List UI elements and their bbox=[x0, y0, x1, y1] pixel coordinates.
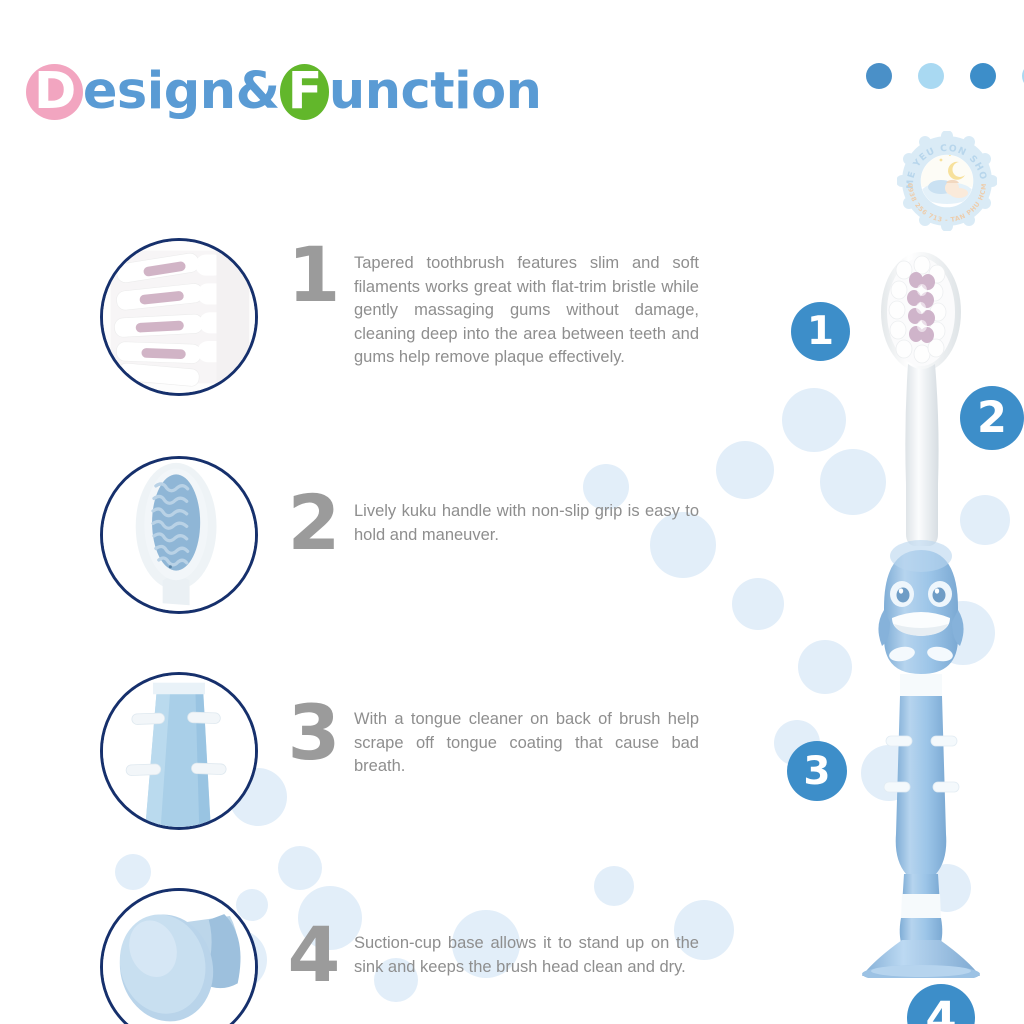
feature-photo-tongue-cleaner bbox=[100, 456, 258, 614]
feature-row-2: 2 Lively kuku handle with non-slip grip … bbox=[100, 456, 699, 614]
feature-text-2: Lively kuku handle with non-slip grip is… bbox=[354, 500, 699, 547]
decor-dot-2 bbox=[918, 63, 944, 89]
feature-text-1: Tapered toothbrush features slim and sof… bbox=[354, 252, 699, 370]
decor-dot-3 bbox=[970, 63, 996, 89]
background-dot bbox=[732, 578, 784, 630]
feature-number-3: 3 bbox=[286, 702, 342, 764]
infographic-page: Design&Function bbox=[0, 0, 1024, 1024]
callout-badge-3[interactable]: 3 bbox=[787, 741, 847, 801]
callout-badge-2[interactable]: 2 bbox=[960, 386, 1024, 450]
title-word-function: unction bbox=[329, 62, 542, 121]
decorative-dot-row bbox=[866, 63, 1024, 89]
feature-row-1: 1 Tapered toothbrush features slim and s… bbox=[100, 238, 699, 396]
callout-badge-1[interactable]: 1 bbox=[791, 302, 850, 361]
page-title: Design&Function bbox=[26, 62, 541, 121]
feature-row-4: 4 Suction-cup base allows it to stand up… bbox=[100, 888, 699, 1024]
background-dot bbox=[716, 441, 774, 499]
feature-photo-suction-cup bbox=[100, 888, 258, 1024]
feature-row-3: 3 With a tongue cleaner on back of brush… bbox=[100, 672, 699, 830]
decor-dot-1 bbox=[866, 63, 892, 89]
title-initial-f: F bbox=[280, 62, 329, 121]
product-toothbrush-image bbox=[836, 234, 1006, 978]
feature-number-2: 2 bbox=[286, 492, 342, 554]
feature-number-4: 4 bbox=[286, 924, 342, 986]
feature-photo-grip-nubs bbox=[100, 672, 258, 830]
feature-text-3: With a tongue cleaner on back of brush h… bbox=[354, 708, 699, 779]
shop-watermark-logo: ME YEU CON SHOP 0938 256 713 - TAN PHU H… bbox=[897, 131, 997, 231]
callout-badge-4[interactable]: 4 bbox=[907, 984, 975, 1024]
background-dot bbox=[115, 854, 151, 890]
feature-text-4: Suction-cup base allows it to stand up o… bbox=[354, 932, 699, 979]
title-word-design: esign& bbox=[83, 62, 280, 121]
feature-photo-bristles bbox=[100, 238, 258, 396]
feature-number-1: 1 bbox=[286, 244, 342, 306]
title-initial-d: D bbox=[26, 62, 83, 121]
background-dot bbox=[278, 846, 322, 890]
